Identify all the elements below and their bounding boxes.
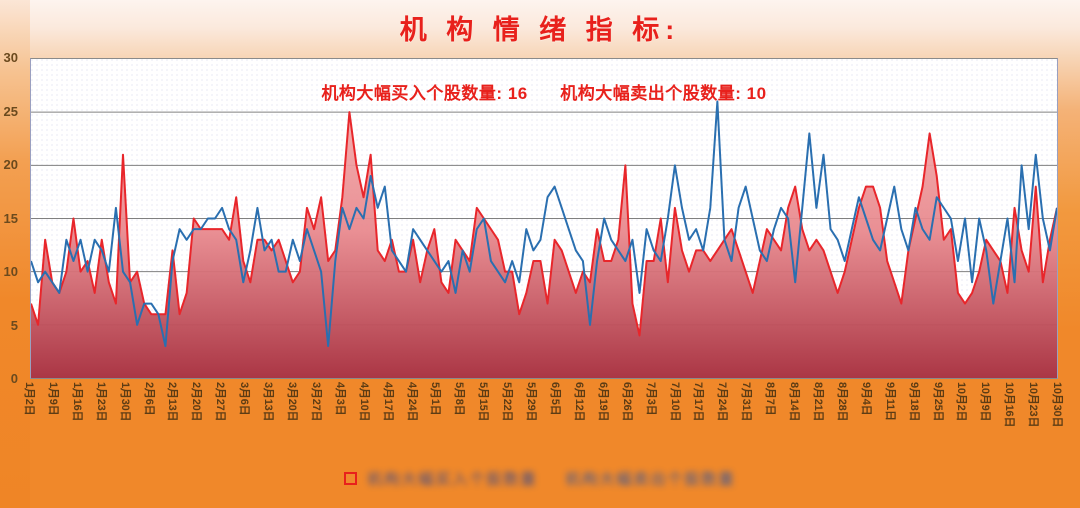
x-axis-tick: 7月3日 [644, 382, 660, 415]
y-axis-tick: 0 [0, 371, 18, 386]
series-area-0 [31, 112, 1057, 378]
x-axis-tick: 7月17日 [691, 382, 707, 421]
x-axis-tick: 5月8日 [452, 382, 468, 415]
left-gradient-wash [0, 0, 30, 508]
sell-count-label: 机构大幅卖出个股数量: [560, 84, 741, 103]
legend-red-square-icon [344, 472, 357, 485]
x-axis-tick: 5月22日 [500, 382, 516, 421]
x-axis-tick: 10月2日 [954, 382, 970, 421]
y-axis-tick: 20 [0, 157, 18, 172]
x-axis-tick: 5月29日 [524, 382, 540, 421]
x-axis-tick: 5月15日 [476, 382, 492, 421]
x-axis-tick: 8月28日 [835, 382, 851, 421]
x-axis-tick: 3月13日 [261, 382, 277, 421]
y-axis-tick: 5 [0, 318, 18, 333]
x-axis-tick: 7月10日 [668, 382, 684, 421]
x-axis-tick: 2月20日 [189, 382, 205, 421]
x-axis-tick: 8月21日 [811, 382, 827, 421]
y-axis-tick: 25 [0, 104, 18, 119]
x-axis-tick: 4月17日 [381, 382, 397, 421]
x-axis-tick: 4月24日 [405, 382, 421, 421]
chart-legend: 机构大幅买入个股数量 机构大幅卖出个股数量 [0, 460, 1080, 496]
x-axis-tick: 2月6日 [142, 382, 158, 415]
x-axis-tick: 9月4日 [859, 382, 875, 415]
x-axis-tick: 9月18日 [907, 382, 923, 421]
x-axis-tick: 7月31日 [739, 382, 755, 421]
x-axis-tick: 1月23日 [94, 382, 110, 421]
x-axis-tick: 10月9日 [978, 382, 994, 421]
x-axis-tick: 10月16日 [1002, 382, 1018, 427]
x-axis-tick: 3月6日 [237, 382, 253, 415]
x-axis-tick: 1月30日 [118, 382, 134, 421]
chart-screenshot: 机 构 情 绪 指 标: 机构大幅买入个股数量: 16 机构大幅卖出个股数量: … [0, 0, 1080, 508]
x-axis-tick: 8月7日 [763, 382, 779, 415]
y-axis-tick: 30 [0, 50, 18, 65]
x-axis-tick: 2月27日 [213, 382, 229, 421]
x-axis-tick: 4月10日 [357, 382, 373, 421]
y-axis-tick: 10 [0, 264, 18, 279]
x-axis-tick: 1月9日 [46, 382, 62, 415]
page-title: 机 构 情 绪 指 标: [0, 8, 1080, 47]
chart-svg [31, 59, 1057, 378]
plot-area: 机构大幅买入个股数量: 16 机构大幅卖出个股数量: 10 [30, 58, 1058, 379]
x-axis-tick: 6月5日 [548, 382, 564, 415]
x-axis-tick: 1月2日 [22, 382, 38, 415]
x-axis-tick: 8月14日 [787, 382, 803, 421]
x-axis-tick: 6月12日 [572, 382, 588, 421]
x-axis-tick: 5月1日 [428, 382, 444, 415]
x-axis-tick: 6月19日 [596, 382, 612, 421]
x-axis-tick: 3月27日 [309, 382, 325, 421]
x-axis: 1月2日1月9日1月16日1月23日1月30日2月6日2月13日2月20日2月2… [30, 382, 1058, 442]
x-axis-tick: 9月11日 [883, 382, 899, 421]
x-axis-tick: 6月26日 [620, 382, 636, 421]
x-axis-tick: 10月30日 [1050, 382, 1066, 427]
sell-count-value: 10 [747, 84, 767, 103]
x-axis-tick: 10月23日 [1026, 382, 1042, 427]
x-axis-tick: 2月13日 [165, 382, 181, 421]
x-axis-tick: 7月24日 [715, 382, 731, 421]
x-axis-tick: 1月16日 [70, 382, 86, 421]
legend-item-buy-label: 机构大幅买入个股数量 [367, 468, 537, 489]
buy-count-value: 16 [508, 84, 528, 103]
buy-count-label: 机构大幅买入个股数量: [321, 84, 502, 103]
x-axis-tick: 9月25日 [931, 382, 947, 421]
x-axis-tick: 3月20日 [285, 382, 301, 421]
y-axis-tick: 15 [0, 211, 18, 226]
legend-item-sell-label: 机构大幅卖出个股数量 [566, 468, 736, 489]
chart-subtitle: 机构大幅买入个股数量: 16 机构大幅卖出个股数量: 10 [31, 79, 1057, 104]
x-axis-tick: 4月3日 [333, 382, 349, 415]
